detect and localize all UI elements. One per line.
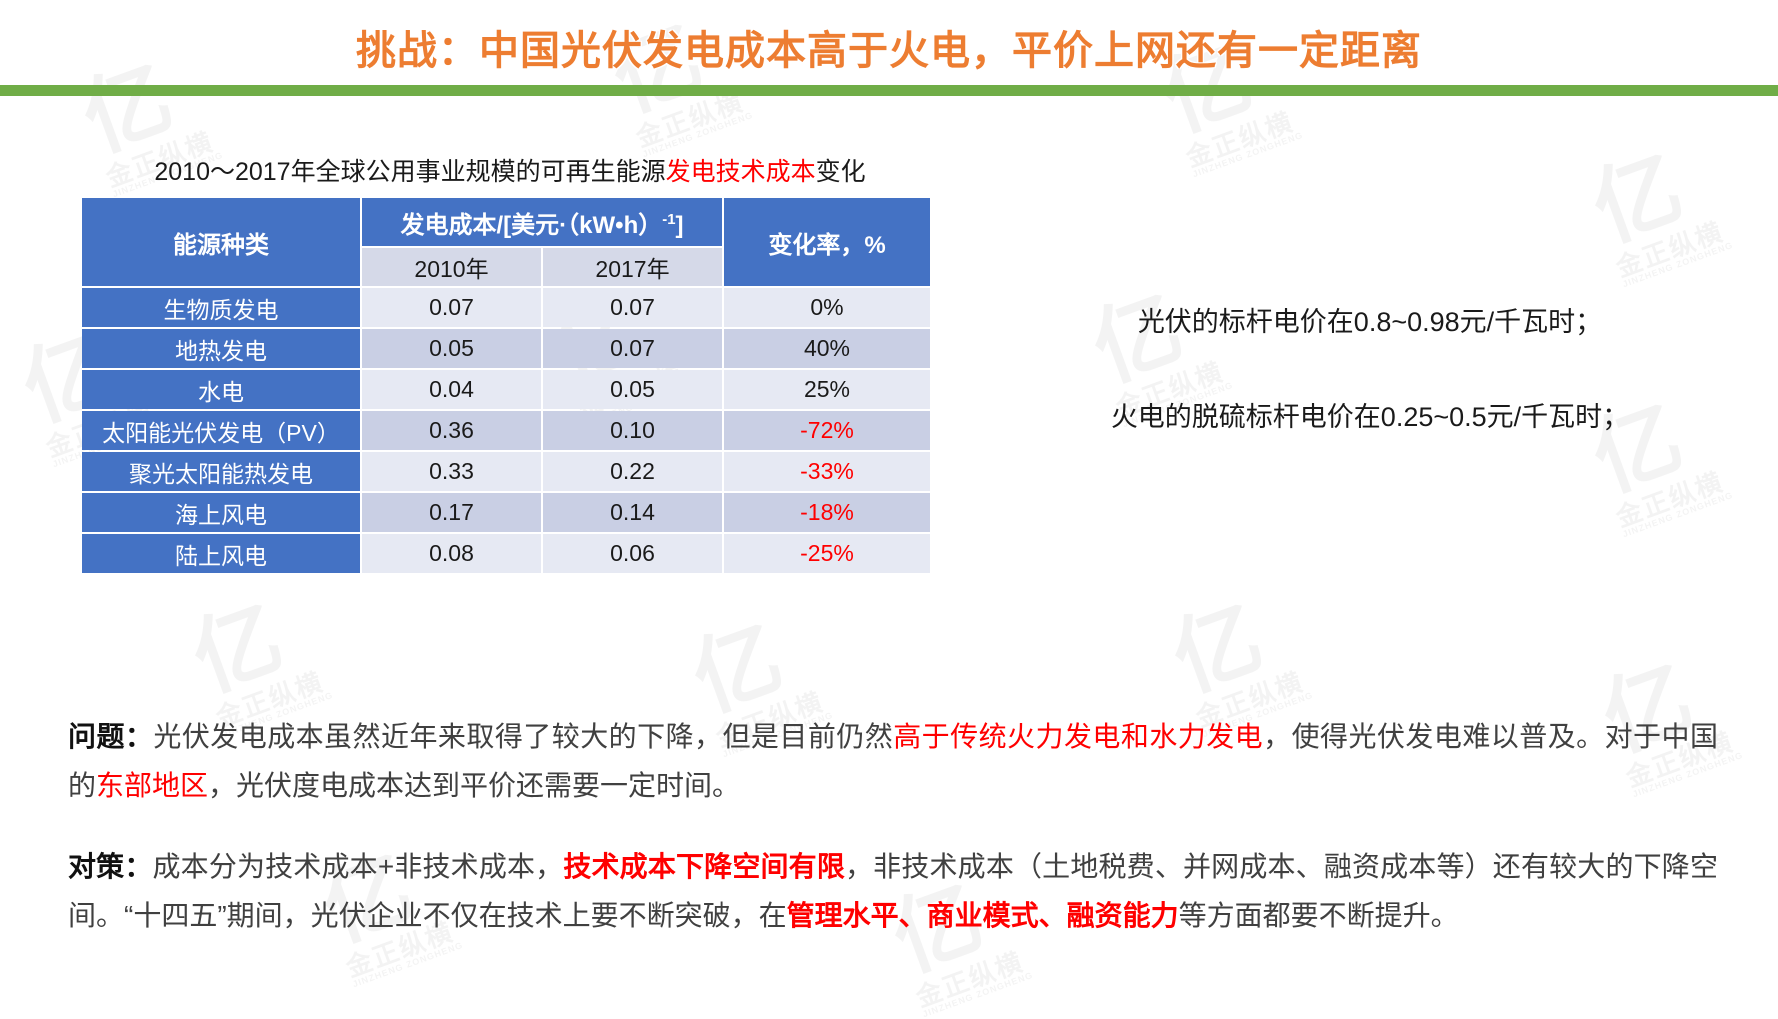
cell-cost-2010: 0.05 [362,329,541,368]
cell-energy-name: 陆上风电 [82,534,360,573]
paragraph-problem: 问题：光伏发电成本虽然近年来取得了较大的下降，但是目前仍然高于传统火力发电和水力… [68,712,1718,810]
cell-cost-2010: 0.07 [362,288,541,327]
cell-cost-2017: 0.22 [543,452,722,491]
table-header-row-1: 能源种类 发电成本/[美元·（kW•h）-1] 变化率，% [82,198,930,246]
problem-segment-1: 光伏发电成本虽然近年来取得了较大的下降，但是目前仍然 [153,721,893,752]
table-head: 能源种类 发电成本/[美元·（kW•h）-1] 变化率，% 2010年 2017… [82,198,930,286]
paragraph-measure: 对策：成本分为技术成本+非技术成本，技术成本下降空间有限，非技术成本（土地税费、… [68,842,1718,940]
cell-cost-2017: 0.06 [543,534,722,573]
slide-title-bar: 挑战：中国光伏发电成本高于火电，平价上网还有一定距离 [0,18,1778,76]
cell-energy-name: 聚光太阳能热发电 [82,452,360,491]
cell-cost-2017: 0.10 [543,411,722,450]
table-row: 地热发电0.050.0740% [82,329,930,368]
header-cost-group: 发电成本/[美元·（kW•h）-1] [362,198,722,246]
cell-change-rate: -25% [724,534,930,573]
cell-change-rate: -18% [724,493,930,532]
problem-highlight-1: 高于传统火力发电和水力发电 [893,721,1263,752]
cell-cost-2017: 0.07 [543,288,722,327]
table-row: 海上风电0.170.14-18% [82,493,930,532]
cell-energy-name: 水电 [82,370,360,409]
header-cost-group-text: 发电成本/[美元·（kW•h） [401,212,663,239]
title-divider-rule [0,85,1778,96]
cell-energy-name: 海上风电 [82,493,360,532]
measure-highlight-2: 管理水平、商业模式、融资能力 [787,900,1179,931]
cell-cost-2010: 0.04 [362,370,541,409]
cell-cost-2010: 0.08 [362,534,541,573]
cell-cost-2017: 0.07 [543,329,722,368]
caption-prefix: 2010～2017年全球公用事业规模的可再生能源 [154,158,665,186]
cell-change-rate: -72% [724,411,930,450]
cell-cost-2017: 0.14 [543,493,722,532]
side-note-thermal-tariff: 火电的脱硫标杆电价在0.25~0.5元/千瓦时； [990,395,1750,434]
bottom-text-block: 问题：光伏发电成本虽然近年来取得了较大的下降，但是目前仍然高于传统火力发电和水力… [68,712,1718,940]
measure-highlight-1: 技术成本下降空间有限 [563,851,845,882]
problem-segment-3: ，光伏度电成本达到平价还需要一定时间。 [208,770,740,801]
problem-lead-label: 问题： [68,721,153,752]
measure-segment-3: 等方面都要不断提升。 [1179,900,1459,931]
cell-cost-2010: 0.36 [362,411,541,450]
cell-change-rate: 25% [724,370,930,409]
cell-change-rate: -33% [724,452,930,491]
measure-lead-label: 对策： [68,851,153,882]
problem-highlight-2: 东部地区 [96,770,208,801]
table-row: 聚光太阳能热发电0.330.22-33% [82,452,930,491]
header-energy-category: 能源种类 [82,198,360,286]
header-cost-group-superscript: -1 [662,212,675,228]
table-row: 陆上风电0.080.06-25% [82,534,930,573]
side-note-pv-tariff: 光伏的标杆电价在0.8~0.98元/千瓦时； [990,300,1750,339]
cell-change-rate: 40% [724,329,930,368]
cell-cost-2010: 0.17 [362,493,541,532]
header-change-rate: 变化率，% [724,198,930,286]
side-notes-block: 光伏的标杆电价在0.8~0.98元/千瓦时； 火电的脱硫标杆电价在0.25~0.… [990,300,1750,434]
caption-suffix: 变化 [816,158,866,186]
table-row: 太阳能光伏发电（PV）0.360.10-72% [82,411,930,450]
watermark: 亿金正纵横JINZHENG ZONGHENG [1582,134,1734,290]
table-caption: 2010～2017年全球公用事业规模的可再生能源发电技术成本变化 [80,152,940,188]
table-body: 生物质发电0.070.070%地热发电0.050.0740%水电0.040.05… [82,288,930,573]
table-row: 生物质发电0.070.070% [82,288,930,327]
cell-energy-name: 太阳能光伏发电（PV） [82,411,360,450]
measure-segment-1: 成本分为技术成本+非技术成本， [153,851,564,882]
header-year-2017: 2017年 [543,248,722,286]
cell-cost-2010: 0.33 [362,452,541,491]
cell-energy-name: 生物质发电 [82,288,360,327]
caption-highlight: 发电技术成本 [666,158,816,186]
header-cost-group-tail: ] [675,212,683,239]
renewable-cost-table: 能源种类 发电成本/[美元·（kW•h）-1] 变化率，% 2010年 2017… [80,196,932,575]
cell-cost-2017: 0.05 [543,370,722,409]
page-title: 挑战：中国光伏发电成本高于火电，平价上网还有一定距离 [356,18,1422,76]
cell-energy-name: 地热发电 [82,329,360,368]
table-row: 水电0.040.0525% [82,370,930,409]
header-year-2010: 2010年 [362,248,541,286]
cell-change-rate: 0% [724,288,930,327]
